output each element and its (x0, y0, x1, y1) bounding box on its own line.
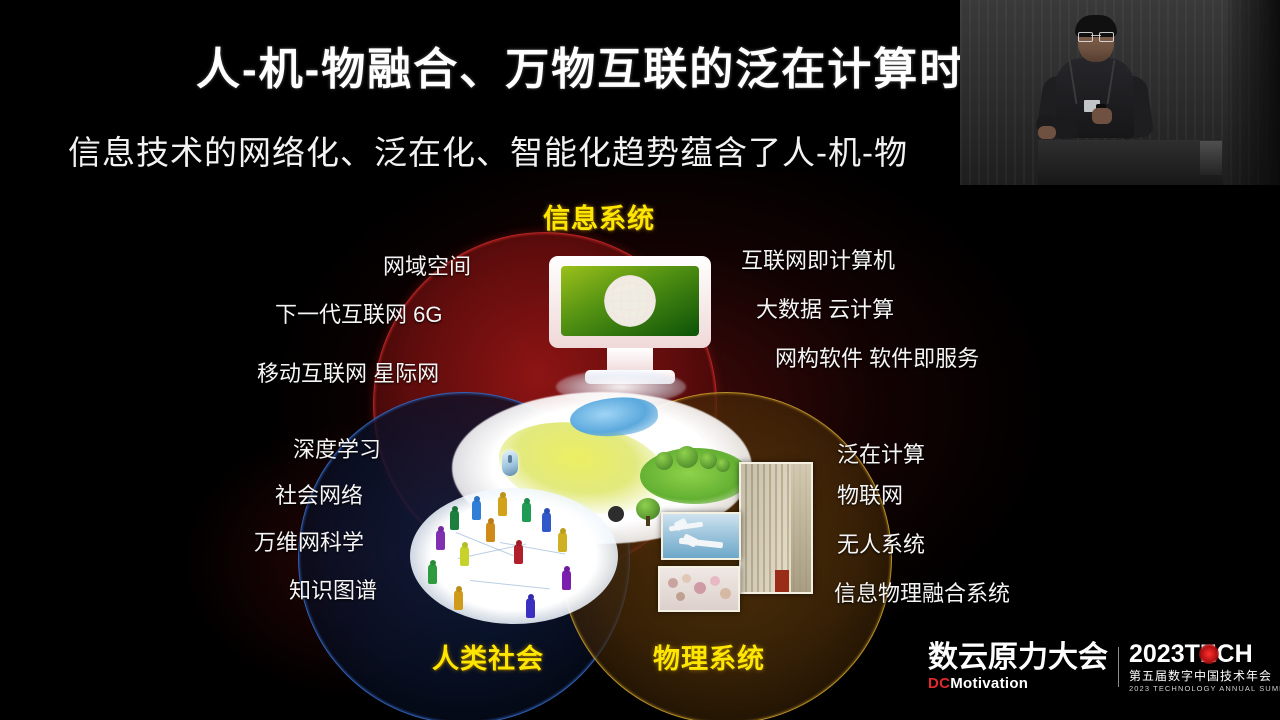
speaker-video-overlay[interactable] (960, 0, 1280, 185)
podium (1038, 140, 1223, 185)
tree-icon (700, 452, 717, 469)
tree-icon-dark (608, 506, 624, 522)
venn-label-human-society: 人类社会 (432, 637, 544, 676)
logo-event-cn: 第五届数字中国技术年会 (1129, 670, 1280, 682)
keyword-bottom-right-3: 无人系统 (837, 527, 925, 559)
slide-subtitle: 信息技术的网络化、泛在化、智能化趋势蕴含了人-机-物 (68, 126, 908, 174)
logo-event: 2023TECH 第五届数字中国技术年会 2023 TECHNOLOGY ANN… (1129, 642, 1280, 693)
person-figure (542, 512, 551, 532)
logo-brand: 数云原力大会 DCMotivation (928, 643, 1108, 691)
mobile-device-icon (502, 450, 518, 476)
person-figure (472, 500, 481, 520)
crowd-blob (694, 582, 706, 594)
crowd-photo-tile (658, 566, 740, 612)
person-figure (526, 598, 535, 618)
crowd-blob (668, 578, 678, 588)
logo-brand-en-dc: DC (928, 675, 950, 692)
keyword-bottom-left-2: 社会网络 (275, 478, 363, 510)
keyword-top-right-1: 互联网即计算机 (741, 243, 895, 275)
person-figure (454, 590, 463, 610)
stage-backdrop-right (1228, 0, 1280, 185)
tree-icon (676, 446, 698, 468)
person-figure (562, 570, 571, 590)
keyword-top-right-2: 大数据 云计算 (756, 292, 894, 324)
glasses-lens-left (1078, 32, 1093, 42)
presentation-slide: 人-机-物融合、万物互联的泛在计算时代 信息技术的网络化、泛在化、智能化趋势蕴含… (0, 0, 1280, 720)
speaker-hand-left (1038, 126, 1056, 139)
keyword-bottom-right-2: 物联网 (837, 478, 903, 510)
crowd-blob (682, 574, 691, 583)
person-figure (436, 530, 445, 550)
tree-icon (716, 458, 730, 472)
keyword-bottom-left-4: 知识图谱 (289, 573, 377, 605)
glasses-lens-right (1099, 32, 1114, 42)
keyword-top-left-1: 网域空间 (383, 249, 471, 281)
network-link (470, 580, 550, 589)
person-figure (460, 546, 469, 566)
person-figure (450, 510, 459, 530)
person-figure (486, 522, 495, 542)
venn-label-information-system: 信息系统 (543, 197, 655, 236)
keyword-bottom-right-4: 信息物理融合系统 (834, 576, 1010, 608)
keyword-bottom-left-1: 深度学习 (293, 432, 381, 464)
keyword-bottom-right-1: 泛在计算 (837, 437, 925, 469)
sky-area (791, 464, 811, 592)
skyscraper-photo-tile (739, 462, 813, 594)
logo-brand-en: DCMotivation (928, 676, 1108, 691)
logo-brand-cn: 数云原力大会 (928, 643, 1108, 673)
keyword-top-right-3: 网构软件 软件即服务 (775, 341, 979, 373)
keyword-bottom-left-3: 万维网科学 (254, 525, 364, 557)
person-figure (428, 564, 437, 584)
glasses-bridge (1091, 35, 1101, 36)
podium-side-panel (1200, 141, 1222, 175)
spark-icon (1199, 644, 1219, 664)
network-link (500, 542, 565, 554)
keyword-top-left-2: 下一代互联网 6G (275, 297, 442, 329)
people-network-icon (410, 488, 618, 624)
person-figure (498, 496, 507, 516)
keyword-top-left-3: 移动互联网 星际网 (257, 356, 439, 388)
aircraft-photo-tile (661, 512, 741, 560)
slide-title: 人-机-物融合、万物互联的泛在计算时代 (196, 33, 1011, 97)
conference-logo: 数云原力大会 DCMotivation 2023TECH 第五届数字中国技术年会… (928, 636, 1280, 698)
crowd-blob (676, 592, 685, 601)
person-figure (558, 532, 567, 552)
tree-icon (655, 452, 673, 470)
crowd-blob (710, 576, 720, 586)
logo-divider (1118, 647, 1119, 687)
person-figure (514, 544, 523, 564)
speaker-hand-right (1092, 108, 1112, 124)
logo-event-year: 2023TECH (1129, 642, 1280, 667)
glasses-icon (1078, 32, 1114, 40)
logo-event-year-text: 2023TECH (1129, 640, 1253, 668)
tree-trunk (646, 516, 650, 526)
venn-label-physical-system: 物理系统 (653, 637, 765, 676)
logo-brand-en-motivation: Motivation (950, 675, 1028, 692)
plane-wing (674, 518, 689, 532)
crowd-blob (720, 588, 731, 599)
logo-event-en: 2023 TECHNOLOGY ANNUAL SUMMIT (1129, 685, 1280, 693)
person-figure (522, 502, 531, 522)
